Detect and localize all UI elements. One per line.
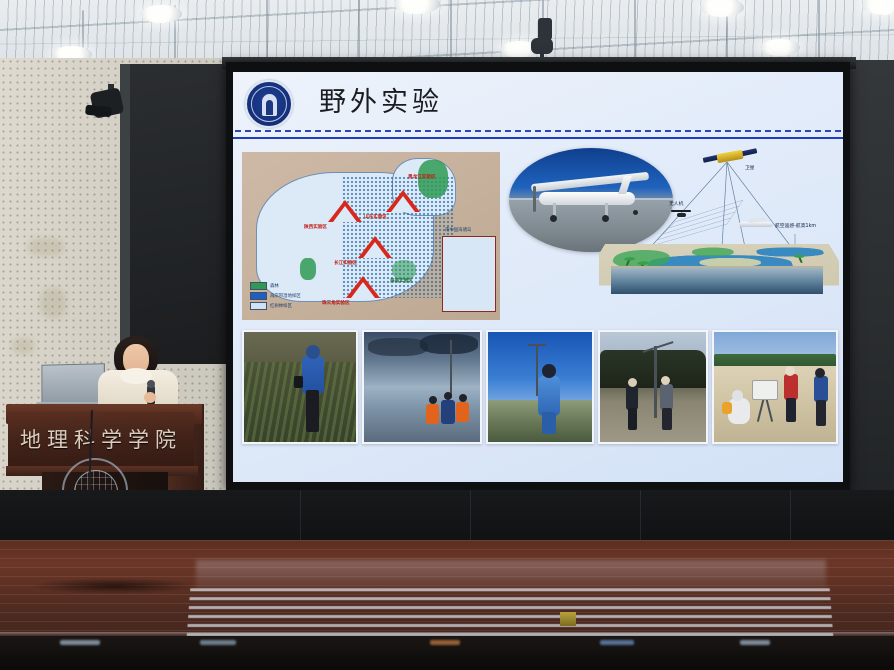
- floor-glint: [200, 640, 236, 645]
- field-photo-mudflat-survey: [242, 330, 358, 444]
- presenter-hand: [144, 392, 156, 403]
- person-head: [459, 394, 467, 402]
- field-photo-wading-team: [362, 330, 482, 444]
- legend-row: 红树林样区: [250, 302, 301, 310]
- aircraft-icon: [739, 222, 773, 227]
- person-head: [661, 376, 670, 385]
- person-legs: [542, 412, 556, 434]
- ceiling-projector-mount: [538, 18, 552, 40]
- floor-object: [560, 612, 576, 626]
- legend-row: 海岸带湿地样区: [250, 292, 301, 300]
- diagram-label-aircraft: 航空遥感-航高1km: [775, 222, 816, 229]
- person-head: [444, 392, 452, 400]
- site-label: 海南实验区: [390, 278, 413, 284]
- person-legs: [816, 400, 826, 426]
- terrain-block-side: [611, 268, 823, 294]
- inset-label: 南中国海诸岛: [445, 227, 471, 233]
- legend-label: 森林: [270, 283, 279, 289]
- site-label: 长江实验区: [334, 260, 357, 266]
- site-marker: [386, 190, 420, 212]
- site-marker: [346, 276, 380, 298]
- diagram-label-satellite: 卫星: [745, 164, 755, 171]
- legend-swatch: [250, 292, 267, 300]
- legend-label: 海岸带湿地样区: [270, 293, 301, 299]
- wall-stain: [28, 238, 64, 256]
- aircraft-propeller: [533, 186, 536, 212]
- site-label: 陕西实验区: [304, 224, 327, 230]
- tower-mast: [654, 346, 657, 418]
- podium-sign-text: 地理科学学院: [20, 424, 182, 454]
- downlight: [140, 5, 182, 23]
- floor-glint: [60, 640, 100, 645]
- wall-stain: [40, 288, 66, 318]
- person-vest: [456, 402, 469, 422]
- field-photo-tower-setup: [598, 330, 708, 444]
- site-label: 黑龙江实验区: [408, 174, 436, 180]
- right-wall-panel: [845, 60, 894, 515]
- presenter: [92, 336, 184, 408]
- floor-glint: [430, 640, 460, 645]
- person-jacket: [441, 400, 455, 424]
- floor-glint: [600, 640, 634, 645]
- person-legs: [306, 390, 319, 432]
- map-forest-patch: [392, 260, 416, 280]
- legend-label: 红树林样区: [270, 303, 292, 309]
- wall-stain: [12, 338, 34, 354]
- terrain-vegetation: [691, 248, 734, 257]
- title-dashed-rule: [235, 130, 841, 132]
- measurement-pole: [450, 340, 452, 398]
- china-field-sites-map: 陕西实验区 山东实验区 黑龙江实验区 长江实验区 珠三角实验区 海南实验区 南中…: [242, 152, 500, 320]
- field-photo-strip: [242, 330, 834, 472]
- person-head: [628, 378, 637, 387]
- uav-icon: [671, 210, 691, 218]
- map-legend: 森林 海岸带湿地样区 红树林样区: [250, 282, 301, 312]
- person-head: [306, 345, 320, 359]
- podium-shadow: [30, 578, 200, 594]
- terrain-water: [756, 248, 826, 257]
- person-head: [429, 396, 437, 404]
- vegetation-patch: [244, 362, 356, 442]
- observation-beam-lines: [599, 148, 839, 320]
- lecture-hall-scene: 野外实验 陕西实验区 山东实验区 黑龙江实验区 长江实验区 珠三角实验区 海南实…: [0, 0, 894, 670]
- south-sea-inset: 南中国海诸岛: [442, 236, 496, 312]
- site-label: 珠三角实验区: [322, 300, 350, 306]
- multi-scale-observation-diagram: 卫星 无人机 航空遥感-航高1km 地面气象站 LAI 生物量 叶绿素: [599, 148, 839, 320]
- slide-title: 野外实验: [319, 80, 443, 119]
- map-forest-patch: [300, 258, 316, 280]
- site-marker: [358, 236, 392, 258]
- person-legs: [786, 398, 796, 422]
- person-body: [302, 356, 324, 394]
- diagram-label-uav: 无人机: [669, 200, 683, 207]
- legend-row: 森林: [250, 282, 301, 290]
- person-body: [626, 386, 638, 410]
- tree-line: [600, 350, 706, 388]
- handheld-instrument: [294, 376, 303, 388]
- person-body: [784, 374, 798, 400]
- person-head: [815, 368, 825, 378]
- field-photo-spectrometer: [486, 330, 594, 444]
- person-body: [660, 384, 673, 410]
- aircraft-wheel: [550, 215, 557, 222]
- field-photo-beach-instrument: [712, 330, 838, 444]
- equipment-bag: [722, 402, 732, 414]
- person-head: [732, 390, 743, 401]
- legend-swatch: [250, 282, 267, 290]
- cloud: [420, 334, 478, 354]
- palm-icon: [798, 257, 802, 263]
- person-vest: [426, 404, 439, 424]
- floor-glint: [740, 640, 770, 645]
- university-crest-icon: [245, 80, 293, 128]
- person-body: [814, 376, 828, 402]
- title-solid-rule: [233, 137, 843, 139]
- cloud: [368, 338, 428, 356]
- instrument-panel: [752, 380, 778, 400]
- site-marker: [328, 200, 362, 222]
- legend-swatch: [250, 302, 267, 310]
- person-body: [538, 376, 560, 416]
- person-legs: [662, 408, 672, 430]
- site-label: 山东实验区: [364, 214, 387, 220]
- person-head: [785, 366, 795, 376]
- person-head: [542, 364, 556, 378]
- person-legs: [628, 408, 637, 430]
- downlight: [760, 39, 800, 56]
- presentation-slide: 野外实验 陕西实验区 山东实验区 黑龙江实验区 长江实验区 珠三角实验区 海南实…: [233, 72, 843, 482]
- dark-wall-panel: [128, 64, 236, 364]
- spectrometer-arm: [528, 344, 546, 346]
